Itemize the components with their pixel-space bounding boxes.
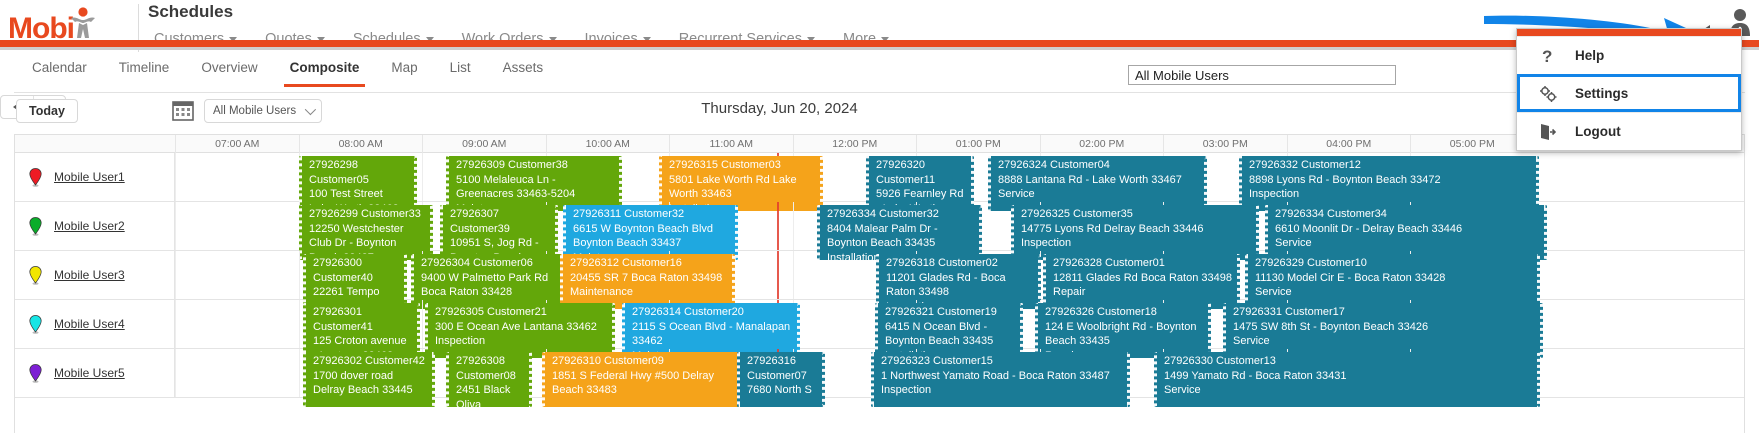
grid-column-divider — [422, 153, 423, 201]
grid-column-divider — [299, 251, 300, 299]
event-address: 11201 Glades Rd - Boca Raton 33498 — [886, 271, 1033, 300]
tab-underline-divider — [14, 92, 1745, 93]
menu-item-label: Settings — [1575, 86, 1628, 101]
time-axis-label: 08:00 AM — [299, 135, 423, 153]
event-type: Inspection — [1249, 187, 1531, 202]
event-id-and-customer: 27926316 Customer07 — [747, 354, 817, 383]
event-id-and-customer: 27926332 Customer12 — [1249, 158, 1531, 173]
event-id-and-customer: 27926301 Customer41 — [313, 305, 412, 334]
map-pin-icon — [29, 168, 42, 187]
event-id-and-customer: 27926326 Customer18 — [1045, 305, 1203, 320]
mobile-user-link[interactable]: Mobile User2 — [54, 219, 125, 233]
event-id-and-customer: 27926310 Customer09 — [552, 354, 737, 369]
grid-column-divider — [175, 251, 176, 299]
composite-schedule-grid: 07:00 AM08:00 AM09:00 AM10:00 AM11:00 AM… — [14, 134, 1745, 433]
event-id-and-customer: 27926307 Customer39 — [450, 207, 550, 236]
header-accent-bar — [0, 40, 1759, 47]
event-address: 8404 Malear Palm Dr - Boynton Beach 3343… — [827, 222, 974, 251]
menu-accent-bar — [1517, 29, 1741, 36]
schedule-event-block[interactable]: 27926330 Customer131499 Yamato Rd - Boca… — [1154, 352, 1540, 407]
event-id-and-customer: 27926298 Customer05 — [309, 158, 409, 187]
event-id-and-customer: 27926299 Customer33 — [309, 207, 425, 222]
current-date-title: Thursday, Jun 20, 2024 — [0, 100, 1559, 117]
event-id-and-customer: 27926334 Customer34 — [1275, 207, 1539, 222]
tab-assets[interactable]: Assets — [487, 52, 560, 83]
event-address: 8898 Lyons Rd - Boynton Beach 33472 — [1249, 173, 1531, 188]
map-pin-icon — [29, 364, 42, 383]
event-type: Maintenance — [570, 285, 727, 300]
event-address: 12811 Glades Rd Boca Raton 33498 — [1053, 271, 1232, 286]
event-address: 1 Northwest Yamato Road - Boca Raton 334… — [881, 369, 1122, 384]
event-id-and-customer: 27926308 Customer08 — [456, 354, 524, 383]
schedule-row-user-label: Mobile User4 — [15, 300, 175, 348]
event-address: 1700 dover road Delray Beach 33445 — [313, 369, 427, 398]
event-type: Inspection — [881, 383, 1122, 398]
mobile-user-link[interactable]: Mobile User4 — [54, 317, 125, 331]
map-pin-icon — [29, 315, 42, 334]
event-id-and-customer: 27926331 Customer17 — [1233, 305, 1535, 320]
menu-item-label: Logout — [1575, 124, 1621, 139]
event-type: Service — [1233, 334, 1535, 349]
event-address: 1499 Yamato Rd - Boca Raton 33431 — [1164, 369, 1532, 384]
time-axis-label: 04:00 PM — [1287, 135, 1411, 153]
map-pin-icon — [29, 217, 42, 236]
time-axis-corner-cell — [15, 135, 175, 152]
tab-map[interactable]: Map — [375, 52, 433, 83]
schedule-row: Mobile User127926298 Customer05100 Test … — [15, 153, 1744, 202]
time-axis-label: 05:00 PM — [1410, 135, 1534, 153]
mobile-user-link[interactable]: Mobile User5 — [54, 366, 125, 380]
event-address: 6610 Moonlit Dr - Delray Beach 33446 — [1275, 222, 1539, 237]
menu-item-logout[interactable]: Logout — [1517, 112, 1741, 150]
event-id-and-customer: 27926328 Customer01 — [1053, 256, 1232, 271]
event-address: 22261 Tempo — [313, 285, 399, 300]
event-address: 14775 Lyons Rd Delray Beach 33446 — [1021, 222, 1251, 237]
event-id-and-customer: 27926311 Customer32 — [573, 207, 730, 222]
time-axis-label: 01:00 PM — [916, 135, 1040, 153]
mobile-user-link[interactable]: Mobile User3 — [54, 268, 125, 282]
event-id-and-customer: 27926315 Customer03 — [669, 158, 815, 173]
tab-calendar[interactable]: Calendar — [16, 52, 103, 83]
time-axis-label: 12:00 PM — [793, 135, 917, 153]
event-address: 5801 Lake Worth Rd Lake Worth 33463 — [669, 173, 815, 202]
event-id-and-customer: 27926302 Customer42 — [313, 354, 427, 369]
schedule-event-block[interactable]: 27926310 Customer091851 S Federal Hwy #5… — [542, 352, 745, 407]
event-id-and-customer: 27926325 Customer35 — [1021, 207, 1251, 222]
event-address: 8888 Lantana Rd - Lake Worth 33467 — [998, 173, 1199, 188]
event-id-and-customer: 27926329 Customer10 — [1255, 256, 1532, 271]
schedule-event-block[interactable]: 27926302 Customer421700 dover road Delra… — [303, 352, 435, 407]
time-axis-label: 10:00 AM — [546, 135, 670, 153]
schedule-event-block[interactable]: 27926308 Customer082451 Black Oliva — [446, 352, 532, 407]
schedule-event-block[interactable]: 27926316 Customer077680 North S — [737, 352, 825, 407]
header-shadow-line — [0, 47, 1759, 50]
grid-column-divider — [793, 202, 794, 250]
event-address: 7680 North S — [747, 383, 817, 398]
grid-column-divider — [175, 153, 176, 201]
event-type: Inspection — [435, 334, 607, 349]
gears-icon — [1535, 85, 1561, 103]
logo-person-icon — [70, 7, 96, 39]
event-address: 5100 Melaleuca Ln - Greenacres 33463-520… — [456, 173, 614, 202]
event-address: 9400 W Palmetto Park Rd Boca Raton 33428 — [421, 271, 566, 300]
sub-tab-bar: Calendar Timeline Overview Composite Map… — [0, 52, 1759, 92]
user-dropdown-menu: ? Help Settings — [1516, 28, 1742, 151]
grid-column-divider — [175, 349, 176, 397]
svg-text:?: ? — [1542, 47, 1552, 66]
time-axis-label: 09:00 AM — [422, 135, 546, 153]
schedule-row: Mobile User227926299 Customer3312250 Wes… — [15, 202, 1744, 251]
grid-column-divider — [175, 202, 176, 250]
time-axis-label: 11:00 AM — [669, 135, 793, 153]
schedule-row-user-label: Mobile User1 — [15, 153, 175, 201]
mobile-user-link[interactable]: Mobile User1 — [54, 170, 125, 184]
event-address: 11130 Model Cir E - Boca Raton 33428 — [1255, 271, 1532, 286]
page-title: Schedules — [148, 2, 233, 22]
event-id-and-customer: 27926309 Customer38 — [456, 158, 614, 173]
schedules-composite-page: MobiWork Schedules Customers Quotes Sche… — [0, 0, 1759, 433]
event-address: 2115 S Ocean Blvd - Manalapan 33462 — [632, 320, 792, 349]
event-id-and-customer: 27926304 Customer06 — [421, 256, 566, 271]
tab-timeline[interactable]: Timeline — [103, 52, 186, 83]
tab-overview[interactable]: Overview — [185, 52, 273, 83]
event-id-and-customer: 27926314 Customer20 — [632, 305, 792, 320]
event-id-and-customer: 27926318 Customer02 — [886, 256, 1033, 271]
schedule-row-user-label: Mobile User3 — [15, 251, 175, 299]
event-id-and-customer: 27926321 Customer19 — [885, 305, 1015, 320]
tab-list[interactable]: List — [434, 52, 487, 83]
schedule-row: Mobile User527926302 Customer421700 dove… — [15, 349, 1744, 398]
event-address: 300 E Ocean Ave Lantana 33462 — [435, 320, 607, 335]
event-type: Inspection — [1021, 236, 1251, 251]
time-axis-label: 02:00 PM — [1040, 135, 1164, 153]
event-address: 1851 S Federal Hwy #500 Delray Beach 334… — [552, 369, 737, 398]
event-id-and-customer: 27926323 Customer15 — [881, 354, 1122, 369]
map-pin-icon — [29, 266, 42, 285]
grid-column-divider — [299, 349, 300, 397]
logout-door-icon — [1535, 122, 1561, 142]
grid-column-divider — [793, 251, 794, 299]
schedule-event-block[interactable]: 27926323 Customer151 Northwest Yamato Ro… — [871, 352, 1130, 407]
schedule-row-user-label: Mobile User5 — [15, 349, 175, 397]
tab-composite[interactable]: Composite — [274, 52, 376, 83]
event-address: 6415 N Ocean Blvd - Boynton Beach 33435 — [885, 320, 1015, 349]
grid-column-divider — [175, 300, 176, 348]
event-type: Service — [998, 187, 1199, 202]
header-mobile-users-field[interactable]: All Mobile Users — [1128, 65, 1396, 85]
event-type: Service — [1255, 285, 1532, 300]
event-address: 6615 W Boynton Beach Blvd Boynton Beach … — [573, 222, 730, 251]
menu-item-settings[interactable]: Settings — [1517, 74, 1741, 112]
grid-column-divider — [299, 300, 300, 348]
time-axis-label: 07:00 AM — [175, 135, 299, 153]
grid-column-divider — [422, 300, 423, 348]
top-header: MobiWork Schedules Customers Quotes Sche… — [0, 0, 1759, 58]
event-address: 2451 Black Oliva — [456, 383, 524, 407]
event-type: Repair — [1053, 285, 1232, 300]
current-time-indicator — [777, 202, 779, 250]
event-id-and-customer: 27926330 Customer13 — [1164, 354, 1532, 369]
time-axis-header: 07:00 AM08:00 AM09:00 AM10:00 AM11:00 AM… — [15, 135, 1744, 153]
schedule-rows: Mobile User127926298 Customer05100 Test … — [15, 153, 1744, 398]
menu-item-label: Help — [1575, 48, 1604, 63]
menu-item-help[interactable]: ? Help — [1517, 36, 1741, 74]
current-time-indicator — [777, 251, 779, 299]
event-id-and-customer: 27926320 Customer11 — [876, 158, 966, 187]
event-type: Service — [1275, 236, 1539, 251]
event-id-and-customer: 27926324 Customer04 — [998, 158, 1199, 173]
schedule-row-user-label: Mobile User2 — [15, 202, 175, 250]
event-id-and-customer: 27926305 Customer21 — [435, 305, 607, 320]
event-address: 20455 SR 7 Boca Raton 33498 — [570, 271, 727, 286]
event-address: 1475 SW 8th St - Boynton Beach 33426 — [1233, 320, 1535, 335]
event-address: 124 E Woolbright Rd - Boynton Beach 3343… — [1045, 320, 1203, 349]
schedule-row: Mobile User327926300 Customer4022261 Tem… — [15, 251, 1744, 300]
event-id-and-customer: 27926300 Customer40 — [313, 256, 399, 285]
event-type: Service — [1164, 383, 1532, 398]
schedule-row: Mobile User427926301 Customer41125 Croto… — [15, 300, 1744, 349]
event-id-and-customer: 27926312 Customer16 — [570, 256, 727, 271]
event-id-and-customer: 27926334 Customer32 — [827, 207, 974, 222]
question-mark-icon: ? — [1535, 46, 1561, 66]
time-axis-label: 03:00 PM — [1163, 135, 1287, 153]
